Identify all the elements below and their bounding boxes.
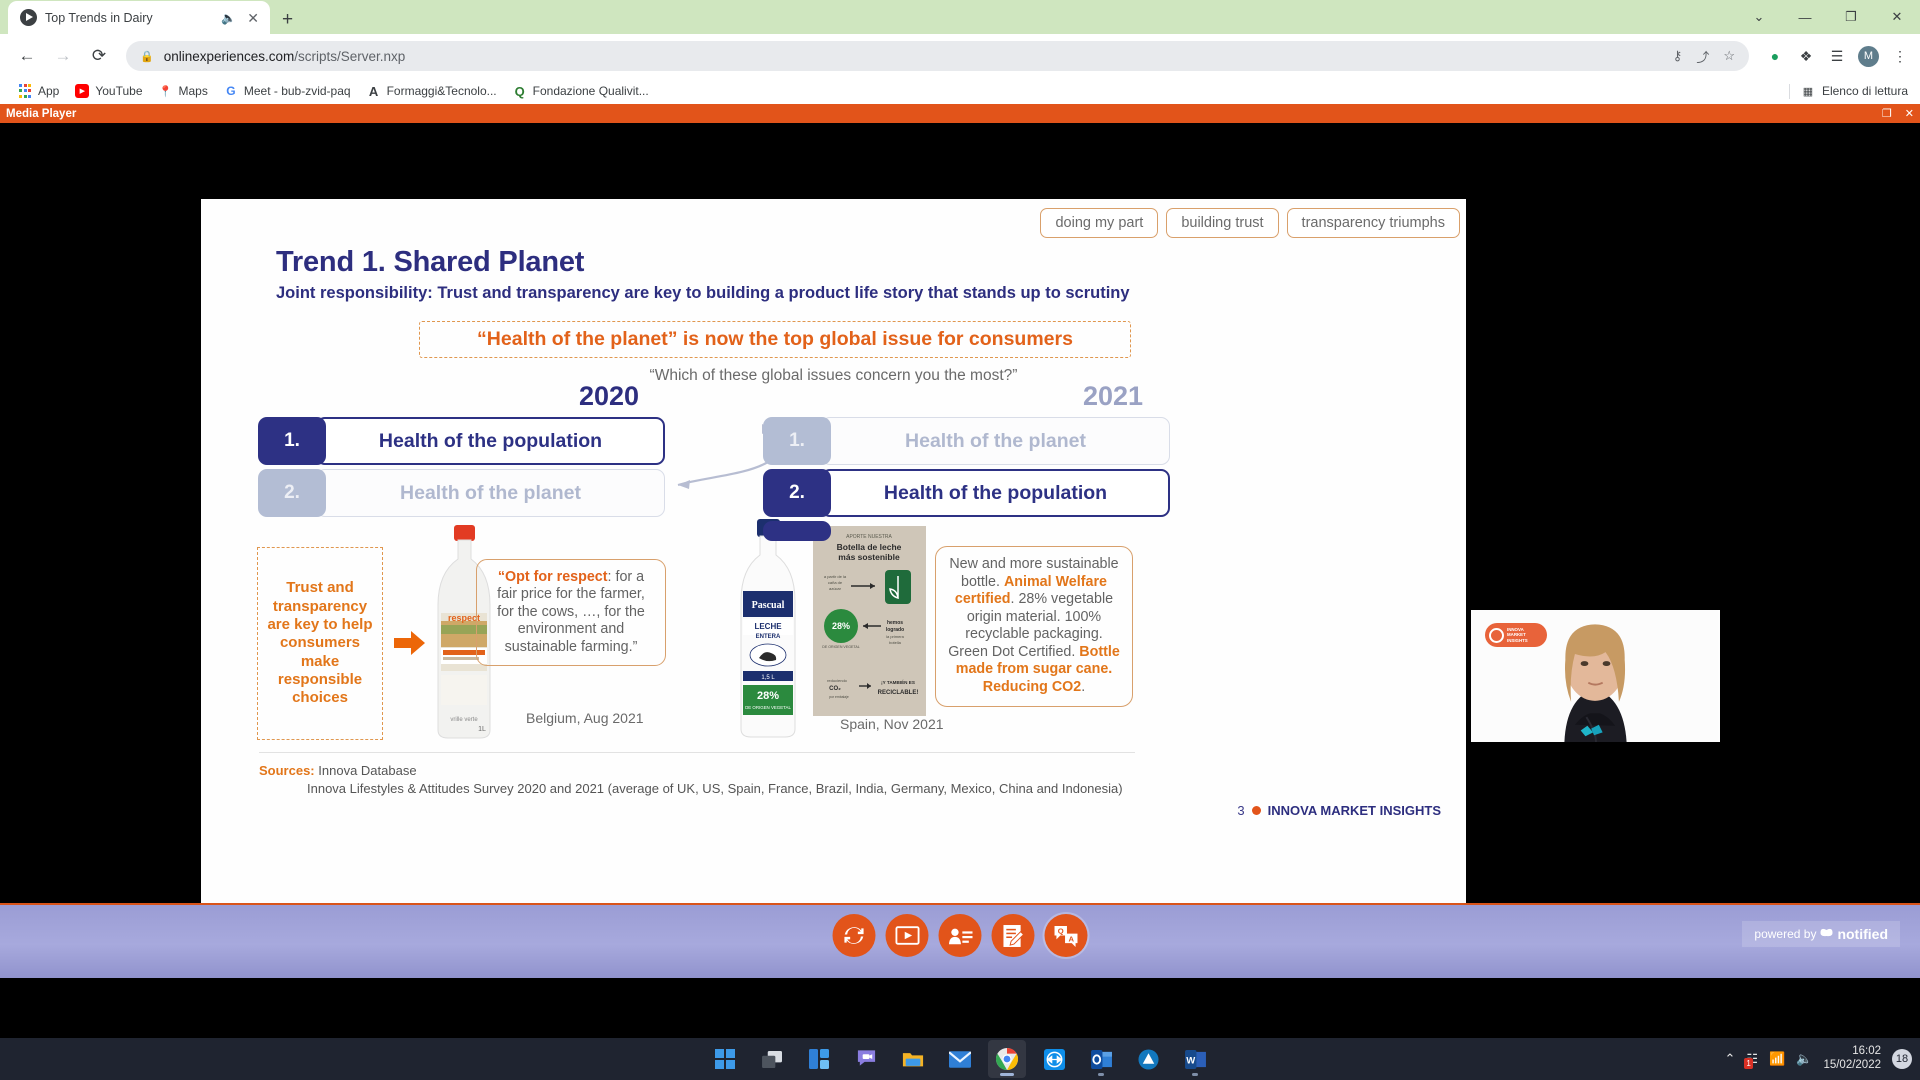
mail-icon <box>949 1051 971 1068</box>
notes-button[interactable] <box>992 914 1035 957</box>
topic-pills: doing my part building trust transparenc… <box>1040 208 1460 238</box>
bookmark-label: Maps <box>179 84 208 98</box>
svg-text:RECICLABLE!: RECICLABLE! <box>878 690 919 696</box>
caption-belgium: Belgium, Aug 2021 <box>526 710 644 726</box>
file-explorer-button[interactable] <box>894 1040 932 1078</box>
address-bar[interactable]: 🔒 onlinexperiences.com/scripts/Server.nx… <box>126 41 1749 71</box>
svg-text:vrille verte: vrille verte <box>450 717 478 723</box>
apps-grid-icon <box>18 84 32 98</box>
svg-text:más sostenible: más sostenible <box>838 552 900 562</box>
powered-by-label: powered by <box>1754 927 1816 941</box>
start-button[interactable] <box>706 1040 744 1078</box>
bookmark-label: Meet - bub-zvid-paq <box>244 84 351 98</box>
innova-logo: INNOVA MARKET INSIGHTS <box>1485 623 1547 647</box>
svg-text:DE ORIGEN VEGETAL: DE ORIGEN VEGETAL <box>822 645 859 649</box>
rank-row-partial <box>763 521 1170 541</box>
chrome-button[interactable] <box>988 1040 1026 1078</box>
lock-icon: 🔒 <box>140 50 154 63</box>
reading-list-icon: ▦ <box>1801 84 1815 98</box>
svg-text:botella: botella <box>889 640 902 645</box>
acronis-icon <box>1138 1049 1159 1070</box>
bookmark-item-youtube[interactable]: ▶ YouTube <box>67 82 150 100</box>
sustainable-bottle-info-box: New and more sustainable bottle. Animal … <box>935 546 1133 707</box>
bookmark-label: YouTube <box>95 84 142 98</box>
svg-text:Botella de leche: Botella de leche <box>837 542 902 552</box>
teams-chat-button[interactable] <box>847 1040 885 1078</box>
divider <box>1789 84 1790 99</box>
window-controls: ⌄ — ❐ ✕ <box>1736 0 1920 34</box>
widgets-button[interactable] <box>800 1040 838 1078</box>
year-label-2020: 2020 <box>579 381 639 412</box>
tab-search-button[interactable]: ⌄ <box>1736 0 1782 34</box>
powered-brand: notified <box>1837 926 1888 942</box>
brand-dot-icon <box>1252 806 1261 815</box>
tray-date: 15/02/2022 <box>1823 1059 1881 1071</box>
reading-list-label: Elenco di lettura <box>1822 84 1908 98</box>
powered-by-badge: powered by notified <box>1742 921 1900 947</box>
qa-chat-icon: Q A <box>1054 925 1079 947</box>
task-view-button[interactable] <box>753 1040 791 1078</box>
svg-text:28%: 28% <box>832 621 850 631</box>
clock[interactable]: 16:02 15/02/2022 <box>1823 1045 1881 1072</box>
pill-transparency-triumphs[interactable]: transparency triumphs <box>1287 208 1460 238</box>
svg-text:28%: 28% <box>757 690 779 702</box>
survey-question: “Which of these global issues concern yo… <box>201 367 1466 385</box>
rank-label: Health of the planet <box>316 469 665 517</box>
bookmark-star-icon[interactable]: ☆ <box>1723 48 1735 64</box>
sources-line1: Innova Database <box>318 763 416 778</box>
rank-label: Health of the population <box>821 469 1170 517</box>
task-view-icon <box>762 1050 783 1069</box>
reading-list-icon[interactable]: ☰ <box>1827 48 1847 65</box>
media-player-title: Media Player <box>6 108 76 120</box>
speaker-bio-button[interactable] <box>939 914 982 957</box>
brand-name: INNOVA MARKET INSIGHTS <box>1268 803 1441 818</box>
butterfly-icon <box>1820 927 1833 942</box>
bookmark-label: App <box>38 84 59 98</box>
divider <box>259 752 1135 753</box>
svg-text:azúcar: azúcar <box>829 586 842 591</box>
key-message-callout: “Health of the planet” is now the top gl… <box>419 321 1131 358</box>
media-player-button[interactable] <box>886 914 929 957</box>
svg-text:caña de: caña de <box>828 580 843 585</box>
trust-note-text: Trust and transparency are key to help c… <box>262 579 378 707</box>
browser-tab-strip: Top Trends in Dairy 🔈 ✕ + ⌄ — ❐ ✕ <box>0 0 1920 34</box>
running-indicator <box>1098 1073 1104 1076</box>
product-image-milk-bottle-spain: Pascual LECHE ENTERA 1,5 L 28% DE ORIGEN… <box>732 519 804 739</box>
chrome-menu-icon[interactable]: ⋮ <box>1890 48 1910 65</box>
svg-text:DE ORIGEN VEGETAL: DE ORIGEN VEGETAL <box>745 705 791 710</box>
word-button[interactable]: W <box>1176 1040 1214 1078</box>
browser-toolbar: ← → ⟳ 🔒 onlinexperiences.com/scripts/Ser… <box>0 34 1920 78</box>
player-control-bar: Q A powered by notified <box>0 903 1920 978</box>
system-tray: ⌃ ☷1 📶 🔈 16:02 15/02/2022 18 <box>1725 1038 1913 1080</box>
tray-time: 16:02 <box>1852 1045 1881 1057</box>
bookmark-item-qualivita[interactable]: Q Fondazione Qualivit... <box>505 82 657 100</box>
refresh-icon <box>843 924 866 947</box>
password-key-icon[interactable]: ⚷ <box>1673 48 1683 64</box>
svg-text:reduciendo: reduciendo <box>827 678 848 683</box>
browser-tab[interactable]: Top Trends in Dairy 🔈 ✕ <box>8 1 270 34</box>
teams-badge-count: 1 <box>1744 1058 1752 1069</box>
minimize-button[interactable]: — <box>1782 0 1828 34</box>
svg-text:¡Y TAMBIÉN ES: ¡Y TAMBIÉN ES <box>881 678 915 685</box>
bookmark-item-meet[interactable]: G Meet - bub-zvid-paq <box>216 82 359 100</box>
page-number: 3 <box>1237 803 1244 818</box>
svg-text:hemos: hemos <box>887 620 903 626</box>
forward-icon[interactable]: → <box>46 39 80 73</box>
wifi-icon[interactable]: 📶 <box>1769 1051 1785 1067</box>
teams-chat-icon <box>856 1049 877 1069</box>
maps-pin-icon: 📍 <box>159 84 173 98</box>
person-list-icon <box>948 926 972 946</box>
bookmark-label: Fondazione Qualivit... <box>533 84 649 98</box>
accent-line <box>0 903 1920 905</box>
avatar[interactable]: M <box>1858 46 1879 67</box>
toolbar-icons: ● ❖ ☰ M ⋮ <box>1759 46 1910 67</box>
speaker-webcam-pip[interactable]: INNOVA MARKET INSIGHTS <box>1468 607 1723 745</box>
sources-label: Sources: <box>259 763 315 778</box>
rank-label: Health of the planet <box>821 417 1170 465</box>
slide-subtitle: Joint responsibility: Trust and transpar… <box>276 284 1130 303</box>
notification-count-badge[interactable]: 18 <box>1892 1049 1912 1069</box>
sources-block: Sources: Innova Database Innova Lifestyl… <box>259 762 1123 797</box>
sources-line2: Innova Lifestyles & Attitudes Survey 202… <box>307 780 1123 798</box>
letter-q-icon: Q <box>513 84 527 98</box>
svg-text:ENTERA: ENTERA <box>756 634 781 640</box>
rank-row: 1. Health of the population <box>258 417 665 465</box>
chrome-icon <box>996 1048 1018 1070</box>
year-label-2021: 2021 <box>1083 381 1143 412</box>
slide-footer: 3 INNOVA MARKET INSIGHTS <box>1237 803 1441 818</box>
outlook-button[interactable] <box>1082 1040 1120 1078</box>
slide-title: Trend 1. Shared Planet <box>276 246 584 279</box>
chevron-up-icon[interactable]: ⌃ <box>1725 1051 1736 1067</box>
rank-row: 1. Health of the planet <box>763 417 1170 465</box>
restore-window-button[interactable]: ❐ <box>1882 107 1892 120</box>
info-line3: . <box>1081 679 1085 695</box>
back-icon[interactable]: ← <box>10 39 44 73</box>
restore-button[interactable]: ❐ <box>1828 0 1874 34</box>
windows-logo-icon <box>715 1049 735 1069</box>
teamviewer-button[interactable] <box>1035 1040 1073 1078</box>
speaker-icon[interactable]: 🔈 <box>221 11 236 25</box>
reading-list-entry[interactable]: ▦ Elenco di lettura <box>1789 84 1908 99</box>
quote-box-belgium: “Opt for respect: for a fair price for t… <box>476 559 666 666</box>
rank-row: 2. Health of the population <box>763 469 1170 517</box>
svg-text:CO₂: CO₂ <box>829 686 841 692</box>
folder-icon <box>902 1050 924 1069</box>
svg-text:por embalaje: por embalaje <box>829 695 849 699</box>
teamviewer-icon <box>1044 1049 1065 1070</box>
running-indicator <box>1192 1073 1198 1076</box>
logo-line-3: INSIGHTS <box>1507 638 1528 643</box>
bookmark-item-formaggi[interactable]: A Formaggi&Tecnolo... <box>359 82 505 100</box>
svg-text:logrado: logrado <box>886 627 904 633</box>
mail-button[interactable] <box>941 1040 979 1078</box>
svg-text:APORTE NUESTRA: APORTE NUESTRA <box>846 534 892 540</box>
svg-text:LECHE: LECHE <box>754 622 782 631</box>
close-icon[interactable]: ✕ <box>244 11 262 25</box>
close-window-button[interactable]: ✕ <box>1905 107 1914 120</box>
sustainability-infographic: APORTE NUESTRA Botella de leche más sost… <box>813 526 926 716</box>
presentation-slide: doing my part building trust transparenc… <box>201 199 1466 915</box>
share-icon[interactable]: ⤴ <box>1696 47 1709 66</box>
play-circle-icon <box>20 9 37 26</box>
extensions-puzzle-icon[interactable]: ❖ <box>1796 48 1816 65</box>
svg-text:W: W <box>1186 1055 1195 1066</box>
url-text: onlinexperiences.com/scripts/Server.nxp <box>164 49 1663 64</box>
rank-label: Health of the population <box>316 417 665 465</box>
video-screen-icon <box>895 926 919 945</box>
tab-title: Top Trends in Dairy <box>45 11 213 25</box>
svg-text:Pascual: Pascual <box>752 600 785 611</box>
widgets-icon <box>809 1049 829 1069</box>
bookmark-label: Formaggi&Tecnolo... <box>387 84 497 98</box>
caption-spain: Spain, Nov 2021 <box>840 716 944 732</box>
refresh-button[interactable] <box>833 914 876 957</box>
quote-highlight: “Opt for respect <box>498 569 608 585</box>
rank-number: 1. <box>763 417 831 465</box>
outlook-icon <box>1091 1050 1112 1069</box>
bookmark-item-maps[interactable]: 📍 Maps <box>151 82 216 100</box>
notepad-pencil-icon <box>1003 924 1024 948</box>
svg-text:a partir de la: a partir de la <box>824 574 847 579</box>
media-player-titlebar: Media Player ❐ ✕ <box>0 104 1920 123</box>
word-icon: W <box>1185 1050 1206 1069</box>
running-indicator <box>1000 1073 1014 1076</box>
location-pin-icon[interactable]: ● <box>1765 48 1785 64</box>
youtube-icon: ▶ <box>75 84 89 98</box>
svg-text:1L: 1L <box>478 726 486 733</box>
svg-text:A: A <box>1068 934 1074 943</box>
rank-number: 2. <box>258 469 326 517</box>
volume-icon[interactable]: 🔈 <box>1796 1051 1812 1067</box>
bookmark-item-app[interactable]: App <box>10 82 67 100</box>
screen: Top Trends in Dairy 🔈 ✕ + ⌄ — ❐ ✕ ← → ⟳ … <box>0 0 1920 1080</box>
pill-doing-my-part[interactable]: doing my part <box>1040 208 1158 238</box>
rank-number: 1. <box>258 417 326 465</box>
new-tab-button[interactable]: + <box>282 10 293 29</box>
google-g-icon: G <box>224 84 238 98</box>
close-button[interactable]: ✕ <box>1874 0 1920 34</box>
key-message-text: “Health of the planet” is now the top gl… <box>477 328 1073 350</box>
right-arrow-icon <box>394 629 426 657</box>
sun-ring-icon <box>1489 628 1504 643</box>
media-player-stage: doing my part building trust transparenc… <box>0 123 1920 978</box>
acronis-button[interactable] <box>1129 1040 1167 1078</box>
svg-text:la primera: la primera <box>886 634 905 639</box>
svg-text:1,5 L: 1,5 L <box>761 675 775 681</box>
windows-taskbar: W ⌃ ☷1 📶 🔈 16:02 15/02/2022 18 <box>0 1038 1920 1080</box>
reload-icon[interactable]: ⟳ <box>82 39 116 73</box>
bookmarks-bar: App ▶ YouTube 📍 Maps G Meet - bub-zvid-p… <box>0 78 1920 104</box>
teams-tray-icon[interactable]: ☷1 <box>1746 1051 1758 1067</box>
letter-a-icon: A <box>367 84 381 98</box>
rank-row: 2. Health of the planet <box>258 469 665 517</box>
svg-text:Q: Q <box>1058 926 1064 935</box>
pill-building-trust[interactable]: building trust <box>1166 208 1278 238</box>
trust-note-box: Trust and transparency are key to help c… <box>257 547 383 740</box>
rank-number: 2. <box>763 469 831 517</box>
qa-chat-button[interactable]: Q A <box>1045 914 1088 957</box>
